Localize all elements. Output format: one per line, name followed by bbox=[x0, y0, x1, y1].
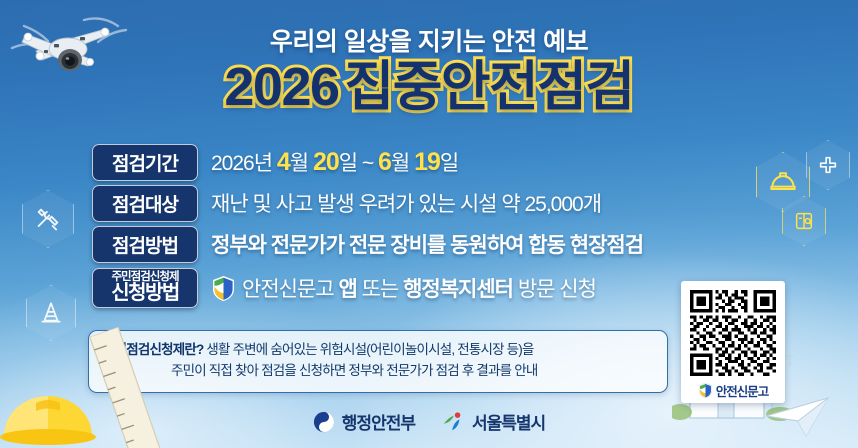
info-label-target: 점검대상 bbox=[92, 185, 198, 222]
note-box: 주민점검신청제란? 생활 주변에 숨어있는 위험시설(어린이놀이시설, 전통시장… bbox=[88, 330, 668, 393]
info-label-period: 점검기간 bbox=[92, 144, 198, 181]
info-rows: 점검기간 2026년 4월 20일 ~ 6월 19일 점검대상 재난 및 사고 … bbox=[92, 144, 782, 314]
title-main: 집중안전점검 bbox=[345, 57, 634, 117]
info-row-period: 점검기간 2026년 4월 20일 ~ 6월 19일 bbox=[92, 144, 782, 180]
medical-cross-icon bbox=[806, 140, 850, 190]
info-row-method: 점검방법 정부와 전문가가 전문 장비를 동원하여 합동 현장점검 bbox=[92, 226, 782, 262]
footer-logos: 행정안전부 서울특별시 bbox=[0, 409, 858, 434]
traffic-cone-icon bbox=[26, 285, 76, 341]
note-line-1: 주민점검신청제란? 생활 주변에 숨어있는 위험시설(어린이놀이시설, 전통시장… bbox=[103, 340, 653, 361]
qr-code-card[interactable]: 안전신문고 bbox=[681, 281, 785, 403]
info-value-apply: 안전신문고 앱 또는 행정복지센터 방문 신청 bbox=[211, 273, 596, 303]
info-value-period: 2026년 4월 20일 ~ 6월 19일 bbox=[211, 147, 458, 177]
info-value-method: 정부와 전문가가 전문 장비를 동원하여 합동 현장점검 bbox=[211, 229, 643, 259]
qr-code-image[interactable] bbox=[687, 287, 779, 379]
shield-icon bbox=[211, 275, 236, 302]
tools-icon bbox=[22, 190, 74, 248]
page-title: 2026집중안전점검 bbox=[0, 60, 858, 114]
qr-label-text: 안전신문고 bbox=[716, 381, 769, 400]
info-label-apply: 주민점검신청제 신청방법 bbox=[92, 268, 198, 308]
logo-mois: 행정안전부 bbox=[313, 409, 415, 434]
logo-mois-name: 행정안전부 bbox=[342, 409, 415, 434]
seoul-icon bbox=[441, 411, 465, 433]
logo-seoul: 서울특별시 bbox=[441, 409, 545, 434]
tagline: 우리의 일상을 지키는 안전 예보 bbox=[0, 22, 858, 58]
note-line-2: 주민이 직접 찾아 점검을 신청하면 정부와 전문가가 점검 후 결과를 안내 bbox=[103, 361, 653, 382]
note-line-1-rest: 생활 주변에 숨어있는 위험시설(어린이놀이시설, 전통시장 등)을 bbox=[203, 342, 533, 357]
info-row-target: 점검대상 재난 및 사고 발생 우려가 있는 시설 약 25,000개 bbox=[92, 185, 782, 221]
taegeuk-icon bbox=[313, 411, 335, 433]
info-label-apply-main: 신청방법 bbox=[102, 283, 188, 304]
info-label-method: 점검방법 bbox=[92, 226, 198, 263]
info-value-target: 재난 및 사고 발생 우려가 있는 시설 약 25,000개 bbox=[211, 188, 601, 218]
safety-inspection-banner: 우리의 일상을 지키는 안전 예보 2026집중안전점검 점검기간 2026년 … bbox=[0, 0, 858, 448]
info-row-apply: 주민점검신청제 신청방법 안전신문고 앱 또는 행정복지센터 방문 신청 bbox=[92, 267, 782, 309]
shield-icon bbox=[698, 382, 713, 399]
title-year: 2026 bbox=[224, 57, 338, 117]
logo-seoul-name: 서울특별시 bbox=[472, 409, 545, 434]
qr-code-label: 안전신문고 bbox=[687, 381, 779, 400]
